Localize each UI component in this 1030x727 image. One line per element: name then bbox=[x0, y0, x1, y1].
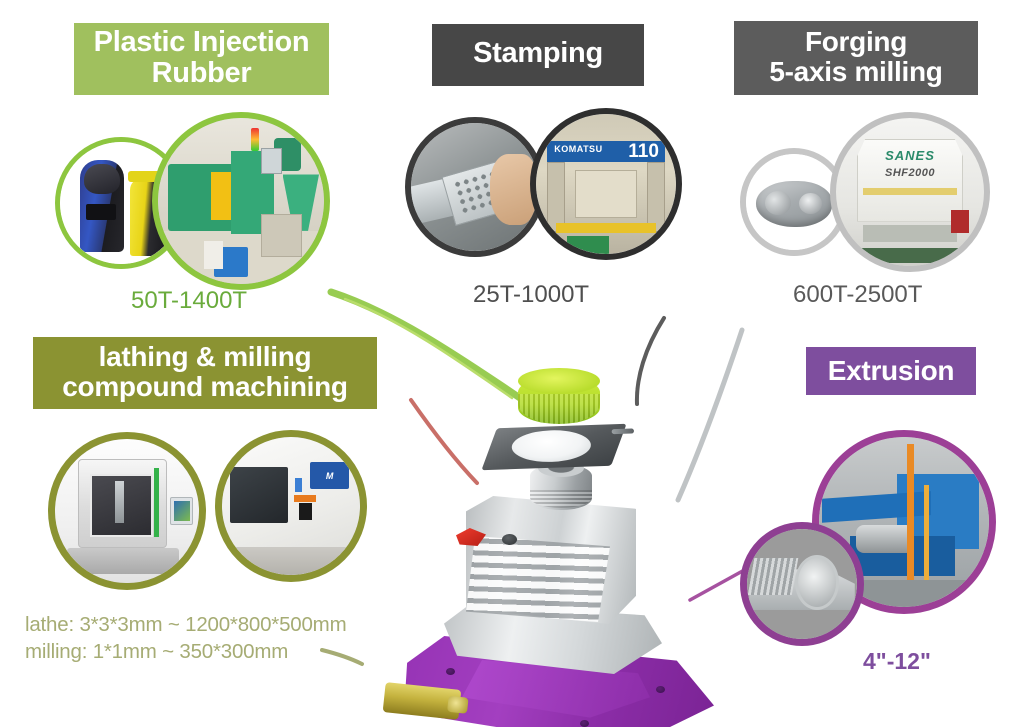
assembly-screw-hole-3 bbox=[656, 686, 665, 693]
extrusion-pipe-orange-1 bbox=[907, 444, 914, 594]
banner-forging: Forging 5-axis milling bbox=[734, 21, 978, 95]
photo-cnc-machine-closeup: M bbox=[215, 430, 367, 582]
cnc-sticker bbox=[299, 503, 311, 520]
caption-lathe-milling-specs: lathe: 3*3*3mm ~ 1200*800*500mm milling:… bbox=[25, 611, 346, 665]
banner-plastic-injection: Plastic Injection Rubber bbox=[74, 23, 329, 95]
banner-stamping: Stamping bbox=[432, 24, 644, 86]
press-column-left bbox=[547, 162, 565, 232]
exploded-product-assembly bbox=[398, 368, 728, 713]
cnc-floor bbox=[222, 547, 360, 575]
machine-parts-bin bbox=[214, 247, 247, 277]
cnc-label-orange bbox=[294, 495, 316, 502]
forging-press-yellow-band bbox=[863, 188, 958, 195]
assembly-screw-hole-1 bbox=[446, 668, 455, 675]
cnc-status-strip bbox=[154, 468, 158, 537]
photo-inner: KOMATSU 110 bbox=[536, 114, 676, 254]
photo-inner bbox=[55, 439, 199, 583]
press-brand-band: KOMATSU 110 bbox=[547, 141, 665, 162]
assembly-plastic-cap bbox=[518, 376, 600, 424]
photo-stamped-sheet-metal-part bbox=[405, 117, 545, 257]
cnc-window bbox=[90, 474, 153, 537]
forging-press-control-box bbox=[951, 210, 969, 234]
machine-control-panel bbox=[261, 148, 283, 175]
cnc-door-window bbox=[230, 467, 288, 522]
profile-cooling-fins bbox=[748, 558, 799, 595]
assembly-plate-pin bbox=[612, 428, 634, 434]
forging-press-brand-text: SANES bbox=[858, 148, 963, 163]
forging-press-bed bbox=[863, 225, 958, 243]
assembly-machined-neck bbox=[530, 464, 592, 510]
press-safety-bar bbox=[556, 223, 657, 233]
photo-inner: M bbox=[222, 437, 360, 575]
photo-inner: SANES SHF2000 bbox=[836, 118, 984, 266]
caption-forging-tonnage: 600T-2500T bbox=[793, 281, 922, 309]
press-column-right bbox=[647, 162, 665, 232]
photo-injection-molding-machine bbox=[152, 112, 330, 290]
forging-press-base bbox=[851, 248, 969, 263]
caption-plastic-tonnage: 50T-1400T bbox=[131, 287, 247, 315]
assembly-cooling-fins bbox=[466, 536, 616, 622]
infographic-canvas: Plastic Injection Rubber 50T-1400T Stamp… bbox=[0, 0, 1030, 727]
press-lower-unit bbox=[567, 236, 609, 254]
photo-inner bbox=[746, 154, 842, 250]
photo-inner bbox=[411, 123, 539, 251]
plastic-product-blue bbox=[80, 160, 124, 252]
machine-cabinet bbox=[261, 214, 303, 257]
press-model-text: 110 bbox=[628, 141, 659, 163]
press-brand-text: KOMATSU bbox=[554, 144, 602, 154]
caption-stamping-tonnage: 25T-1000T bbox=[473, 281, 589, 309]
forging-press-model-text: SHF2000 bbox=[858, 167, 963, 179]
machine-clamp-unit bbox=[168, 164, 234, 230]
photo-extruded-aluminum-profile bbox=[740, 522, 864, 646]
assembly-stamped-plate bbox=[481, 424, 626, 470]
forged-part-shape bbox=[756, 181, 833, 227]
press-ram bbox=[575, 170, 637, 218]
extrusion-pipe-orange-2 bbox=[924, 485, 929, 580]
assembly-side-hole bbox=[502, 534, 517, 545]
photo-cnc-machining-center bbox=[48, 432, 206, 590]
assembly-screw-hole-4 bbox=[580, 720, 589, 727]
banner-lathing-milling: lathing & milling compound machining bbox=[33, 337, 377, 409]
cnc-label-blue bbox=[295, 478, 302, 492]
assembly-lens bbox=[511, 429, 591, 463]
extrusion-ram-cylinder bbox=[856, 525, 914, 552]
photo-stamping-press: KOMATSU 110 bbox=[530, 108, 682, 260]
photo-inner bbox=[158, 118, 324, 284]
machine-signal-lamp bbox=[251, 128, 259, 151]
banner-extrusion: Extrusion bbox=[806, 347, 976, 395]
photo-inner bbox=[747, 529, 857, 639]
cnc-base bbox=[67, 548, 179, 574]
cnc-brand-badge: M bbox=[310, 462, 349, 490]
forging-press-frame: SANES SHF2000 bbox=[857, 139, 964, 222]
cnc-control-panel bbox=[170, 497, 193, 526]
photo-forging-press: SANES SHF2000 bbox=[830, 112, 990, 272]
caption-extrusion-size: 4"-12" bbox=[863, 648, 931, 675]
